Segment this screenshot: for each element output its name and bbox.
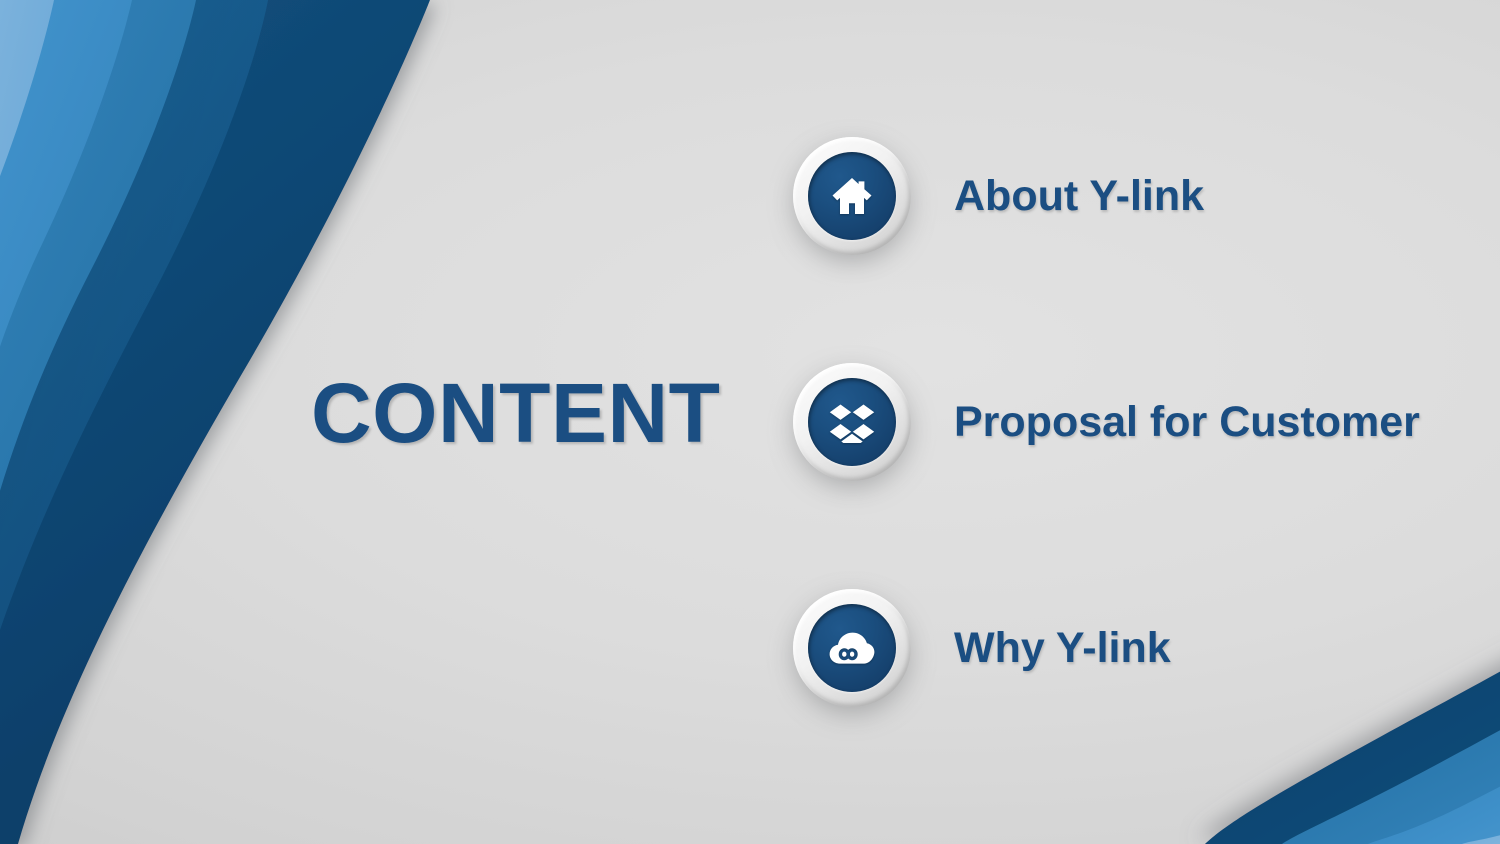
badge-disc: [808, 152, 896, 240]
content-item-label: Why Y-link: [954, 624, 1171, 673]
content-slide: CONTENT About Y-link: [0, 0, 1500, 844]
badge-about-y-link[interactable]: [793, 137, 911, 255]
badge-disc: [808, 378, 896, 466]
content-item-label: Proposal for Customer: [954, 398, 1420, 447]
content-item-why-y-link[interactable]: Why Y-link: [793, 588, 1171, 708]
cloud-infinity-icon: [828, 629, 876, 667]
content-item-proposal-for-customer[interactable]: Proposal for Customer: [793, 362, 1420, 482]
badge-disc: [808, 604, 896, 692]
home-icon: [829, 175, 875, 217]
badge-proposal-for-customer[interactable]: [793, 363, 911, 481]
content-item-label: About Y-link: [954, 172, 1204, 221]
content-list: About Y-link: [0, 0, 1500, 844]
badge-why-y-link[interactable]: [793, 589, 911, 707]
content-item-about-y-link[interactable]: About Y-link: [793, 136, 1204, 256]
dropbox-icon: [829, 401, 875, 443]
